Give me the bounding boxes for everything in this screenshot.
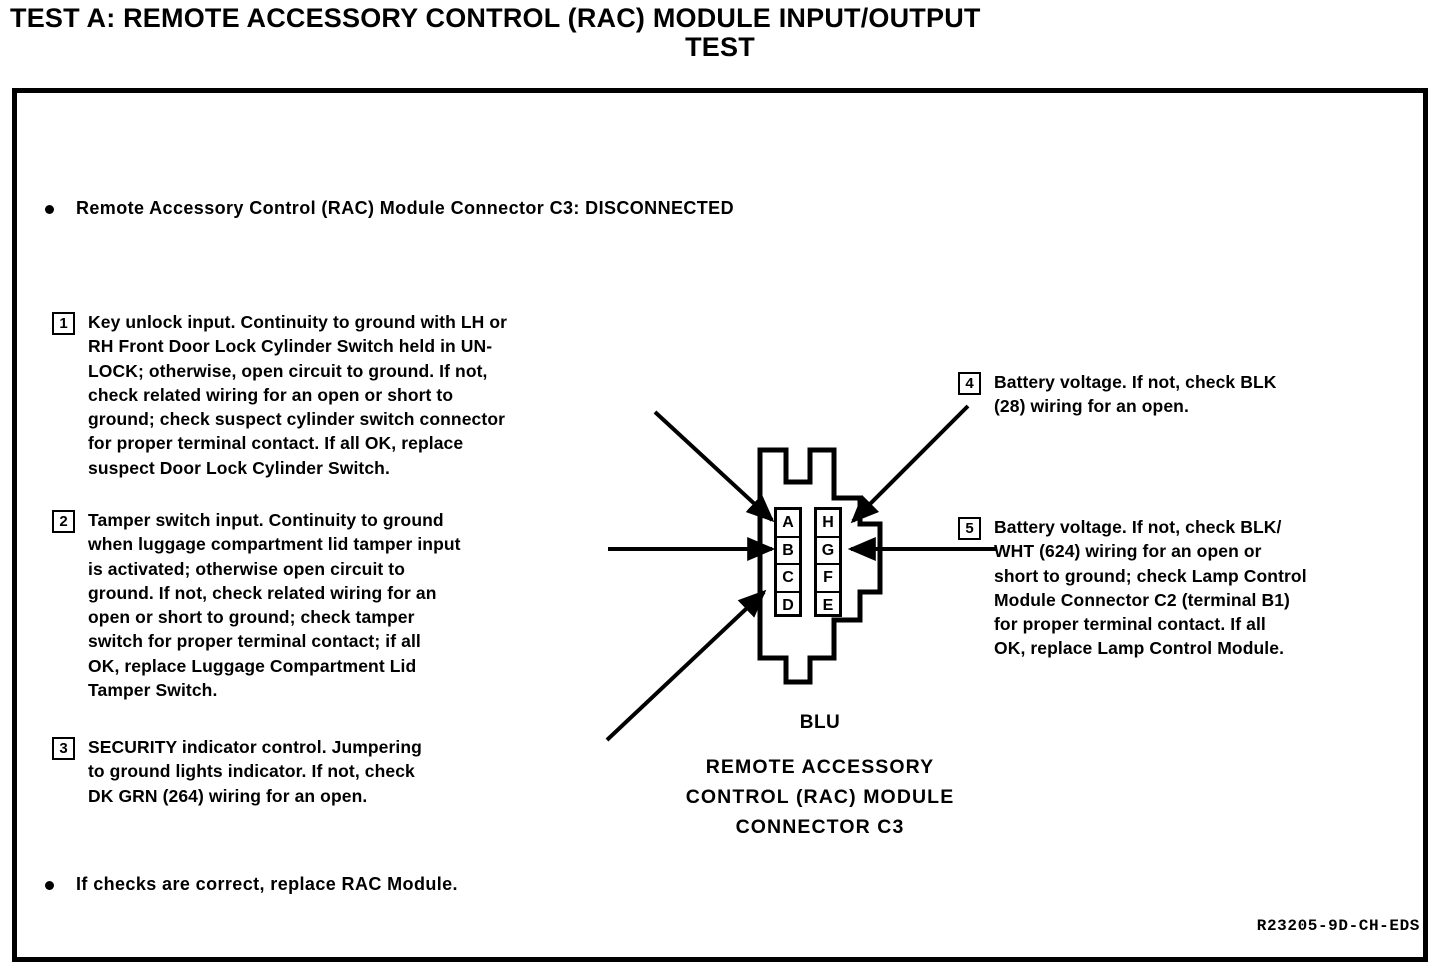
terminal-b: B: [777, 538, 799, 566]
callout-number-3: 3: [52, 737, 75, 760]
callout-number-2: 2: [52, 510, 75, 533]
terminal-a: A: [777, 510, 799, 538]
conclusion-bullet-row: If checks are correct, replace RAC Modul…: [45, 874, 458, 895]
callout-4: 4 Battery voltage. If not, check BLK (28…: [958, 370, 1398, 419]
callout-text-5: Battery voltage. If not, check BLK/ WHT …: [994, 515, 1307, 661]
terminal-d: D: [777, 593, 799, 621]
page-title: TEST A: REMOTE ACCESSORY CONTROL (RAC) M…: [10, 4, 1430, 62]
terminal-e: E: [817, 593, 839, 621]
terminal-column-right: H G F E: [814, 507, 842, 617]
callout-1: 1 Key unlock input. Continuity to ground…: [52, 310, 672, 480]
callout-number-4: 4: [958, 372, 981, 395]
terminal-f: F: [817, 565, 839, 593]
connector-caption: REMOTE ACCESSORY CONTROL (RAC) MODULE CO…: [620, 752, 1020, 842]
terminal-c: C: [777, 565, 799, 593]
callout-text-2: Tamper switch input. Continuity to groun…: [88, 508, 461, 702]
precondition-bullet-row: Remote Accessory Control (RAC) Module Co…: [45, 198, 734, 219]
callout-5: 5 Battery voltage. If not, check BLK/ WH…: [958, 515, 1408, 661]
page-title-line-2: TEST: [10, 33, 1430, 62]
callout-text-3: SECURITY indicator control. Jumpering to…: [88, 735, 422, 808]
bullet-dot-icon: [45, 881, 54, 890]
callout-2: 2 Tamper switch input. Continuity to gro…: [52, 508, 612, 702]
callout-number-5: 5: [958, 517, 981, 540]
precondition-text: Remote Accessory Control (RAC) Module Co…: [76, 198, 734, 219]
connector-color-label: BLU: [700, 712, 940, 734]
terminal-g: G: [817, 538, 839, 566]
terminal-h: H: [817, 510, 839, 538]
conclusion-text: If checks are correct, replace RAC Modul…: [76, 874, 458, 895]
terminal-column-left: A B C D: [774, 507, 802, 617]
page-title-line-1: TEST A: REMOTE ACCESSORY CONTROL (RAC) M…: [10, 4, 1430, 33]
callout-text-4: Battery voltage. If not, check BLK (28) …: [994, 370, 1277, 419]
connector-diagram: A B C D H G F E: [748, 440, 908, 700]
reference-code: R23205-9D-CH-EDS: [1180, 917, 1420, 935]
callout-3: 3 SECURITY indicator control. Jumpering …: [52, 735, 592, 808]
callout-number-1: 1: [52, 312, 75, 335]
callout-text-1: Key unlock input. Continuity to ground w…: [88, 310, 507, 480]
bullet-dot-icon: [45, 205, 54, 214]
